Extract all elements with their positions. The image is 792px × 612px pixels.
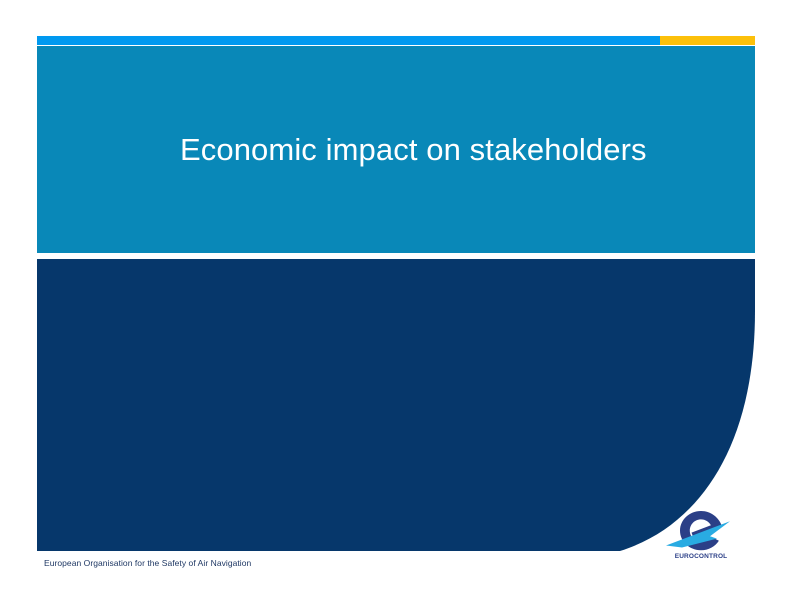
eurocontrol-e-swoosh-icon — [664, 508, 738, 552]
content-panel — [37, 259, 755, 551]
footer-organisation-text: European Organisation for the Safety of … — [44, 558, 251, 568]
page-title: Economic impact on stakeholders — [180, 132, 740, 168]
top-accent-bar-yellow — [660, 36, 755, 45]
top-accent-bar-blue — [37, 36, 660, 45]
eurocontrol-wordmark: EUROCONTROL — [664, 553, 738, 561]
presentation-slide: Economic impact on stakeholders EUROCONT… — [0, 0, 792, 612]
eurocontrol-logo: EUROCONTROL — [664, 508, 738, 570]
title-band: Economic impact on stakeholders — [37, 46, 755, 253]
content-panel-shape — [37, 259, 755, 551]
